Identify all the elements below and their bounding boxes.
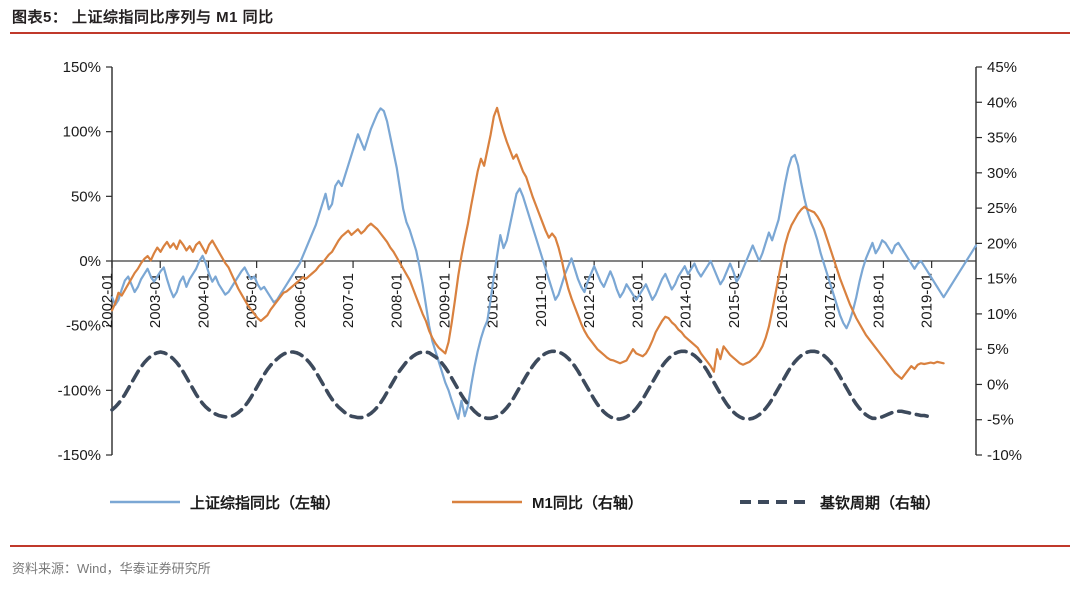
series-line-1 [112, 108, 976, 418]
x-axis-tick-label: 2018-01 [870, 273, 887, 328]
x-axis-tick-label: 2014-01 [678, 273, 695, 328]
footer-divider [10, 545, 1070, 547]
right-axis-tick-label: 0% [987, 376, 1009, 393]
right-axis-tick-label: 35% [987, 130, 1017, 147]
right-axis-tick-label: 25% [987, 200, 1017, 217]
title-divider [10, 32, 1070, 34]
x-axis-tick-label: 2015-01 [726, 273, 743, 328]
chart-container: 150%100%50%0%-50%-100%-150%45%40%35%30%2… [0, 40, 1080, 540]
left-axis-tick-label: -150% [58, 447, 101, 464]
source-note: 资料来源：Wind，华泰证券研究所 [12, 558, 211, 577]
left-axis-tick-label: -50% [66, 318, 101, 335]
left-axis-tick-label: 150% [63, 59, 101, 76]
right-axis-tick-label: 30% [987, 165, 1017, 182]
left-axis-tick-label: 100% [63, 124, 101, 141]
left-axis-tick-label: 0% [79, 253, 101, 270]
x-axis-tick-label: 2009-01 [437, 273, 454, 328]
legend-label-2: M1同比（右轴） [532, 494, 643, 512]
right-axis-tick-label: 40% [987, 94, 1017, 111]
right-axis-tick-label: 5% [987, 341, 1009, 358]
legend-label-3: 基钦周期（右轴） [819, 494, 940, 512]
x-axis-tick-label: 2013-01 [629, 273, 646, 328]
right-axis-tick-label: 15% [987, 271, 1017, 288]
right-axis-tick-label: 45% [987, 59, 1017, 76]
line-chart: 150%100%50%0%-50%-100%-150%45%40%35%30%2… [0, 40, 1080, 540]
x-axis-tick-label: 2003-01 [147, 273, 164, 328]
x-axis-tick-label: 2012-01 [581, 273, 598, 328]
series-line-3 [112, 351, 927, 419]
left-axis-tick-label: 50% [71, 188, 101, 205]
x-axis-tick-label: 2017-01 [822, 273, 839, 328]
x-axis-tick-label: 2008-01 [388, 273, 405, 328]
x-axis-tick-label: 2007-01 [340, 273, 357, 328]
left-axis-tick-label: -100% [58, 382, 101, 399]
x-axis-tick-label: 2016-01 [774, 273, 791, 328]
x-axis-tick-label: 2006-01 [292, 273, 309, 328]
right-axis-tick-label: -5% [987, 412, 1014, 429]
right-axis-tick-label: 10% [987, 306, 1017, 323]
right-axis-tick-label: 20% [987, 235, 1017, 252]
x-axis-tick-label: 2004-01 [195, 273, 212, 328]
right-axis-tick-label: -10% [987, 447, 1022, 464]
page-title: 图表5： 上证综指同比序列与 M1 同比 [12, 6, 274, 27]
x-axis-tick-label: 2011-01 [533, 273, 550, 327]
legend-label-1: 上证综指同比（左轴） [190, 494, 340, 512]
